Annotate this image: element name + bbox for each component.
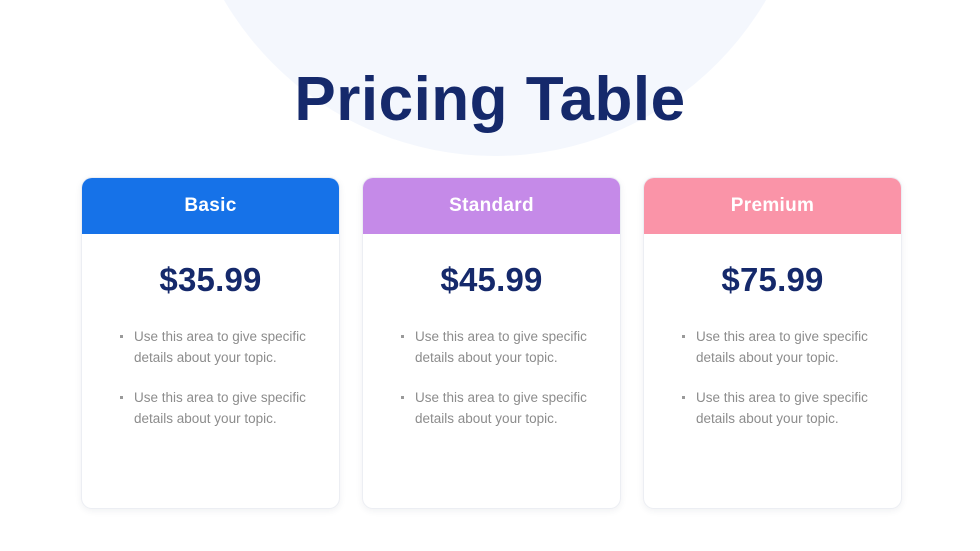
card-header-premium: Premium [644,178,901,234]
page-title: Pricing Table [0,63,980,137]
bullet-dot-icon [120,335,123,338]
pricing-card-premium[interactable]: Premium $75.99 Use this area to give spe… [643,177,902,509]
feature-text: Use this area to give specific details a… [134,329,306,365]
bullet-dot-icon [120,396,123,399]
feature-text: Use this area to give specific details a… [696,390,868,426]
list-item: Use this area to give specific details a… [682,388,883,429]
card-body-standard: $45.99 Use this area to give specific de… [363,234,620,508]
card-body-basic: $35.99 Use this area to give specific de… [82,234,339,508]
plan-price-standard: $45.99 [363,261,620,299]
feature-list-basic: Use this area to give specific details a… [82,327,339,429]
pricing-card-standard[interactable]: Standard $45.99 Use this area to give sp… [362,177,621,509]
feature-text: Use this area to give specific details a… [696,329,868,365]
plan-name-standard: Standard [449,195,534,217]
card-header-standard: Standard [363,178,620,234]
card-body-premium: $75.99 Use this area to give specific de… [644,234,901,508]
list-item: Use this area to give specific details a… [401,327,602,368]
list-item: Use this area to give specific details a… [401,388,602,429]
list-item: Use this area to give specific details a… [120,388,321,429]
bullet-dot-icon [401,335,404,338]
bullet-dot-icon [682,396,685,399]
plan-name-basic: Basic [184,195,236,217]
bullet-dot-icon [682,335,685,338]
plan-price-premium: $75.99 [644,261,901,299]
feature-text: Use this area to give specific details a… [415,390,587,426]
feature-list-standard: Use this area to give specific details a… [363,327,620,429]
feature-list-premium: Use this area to give specific details a… [644,327,901,429]
feature-text: Use this area to give specific details a… [134,390,306,426]
feature-text: Use this area to give specific details a… [415,329,587,365]
bullet-dot-icon [401,396,404,399]
pricing-cards-row: Basic $35.99 Use this area to give speci… [81,177,902,509]
list-item: Use this area to give specific details a… [682,327,883,368]
card-header-basic: Basic [82,178,339,234]
pricing-card-basic[interactable]: Basic $35.99 Use this area to give speci… [81,177,340,509]
plan-price-basic: $35.99 [82,261,339,299]
list-item: Use this area to give specific details a… [120,327,321,368]
plan-name-premium: Premium [731,195,814,217]
